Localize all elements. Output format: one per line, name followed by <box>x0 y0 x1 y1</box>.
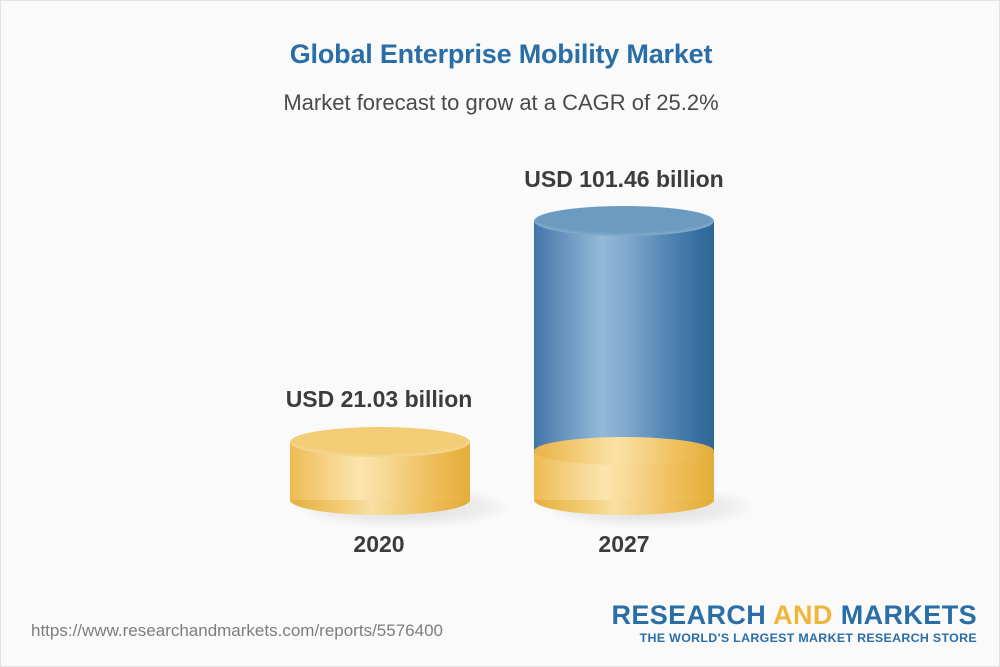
bar-segment-divider-2027 <box>534 437 714 465</box>
logo-tagline: THE WORLD'S LARGEST MARKET RESEARCH STOR… <box>611 631 977 645</box>
bar-top-cap-2027 <box>534 206 714 236</box>
brand-logo[interactable]: RESEARCH AND MARKETS THE WORLD'S LARGEST… <box>611 601 977 645</box>
logo-word-and: AND <box>773 600 833 630</box>
chart-canvas: Global Enterprise Mobility Market Market… <box>0 0 1000 667</box>
category-label-2027: 2027 <box>464 531 784 558</box>
value-label-2020: USD 21.03 billion <box>219 386 539 413</box>
source-url[interactable]: https://www.researchandmarkets.com/repor… <box>31 621 443 641</box>
plot-area: USD 21.03 billion 2020 USD 101.46 billio… <box>1 1 1000 601</box>
bar-segment-blue-2027 <box>534 221 714 453</box>
logo-wordmark: RESEARCH AND MARKETS <box>611 601 977 629</box>
logo-word-markets: MARKETS <box>833 600 977 630</box>
logo-word-research: RESEARCH <box>611 600 773 630</box>
bar-top-cap-2020 <box>290 427 470 457</box>
value-label-2027: USD 101.46 billion <box>464 166 784 193</box>
